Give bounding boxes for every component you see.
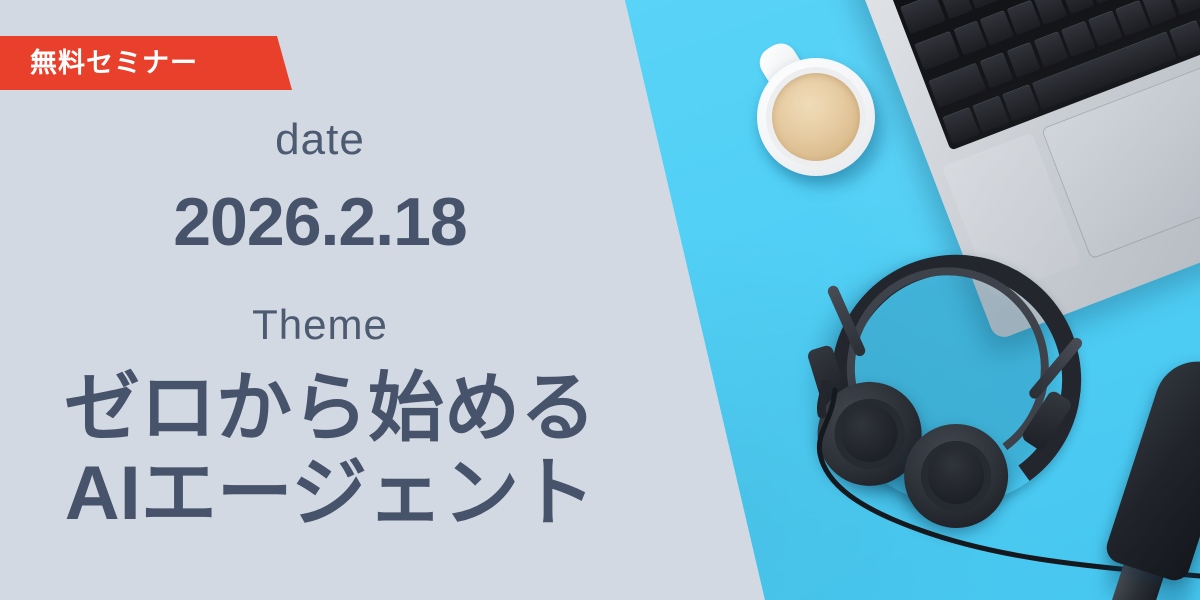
ribbon-label: 無料セミナー: [0, 50, 198, 77]
coffee-liquid: [772, 73, 860, 161]
free-seminar-ribbon: 無料セミナー: [0, 36, 292, 90]
cup-body: [757, 58, 875, 176]
seminar-banner: 無料セミナー date 2026.2.18 Theme ゼロから始める AIエー…: [0, 0, 1200, 600]
theme-title-line-2: AIエージェント: [0, 451, 660, 536]
theme-title-line-1: ゼロから始める: [0, 366, 660, 451]
date-label: date: [0, 118, 640, 162]
content-panel: 無料セミナー date 2026.2.18 Theme ゼロから始める AIエー…: [0, 0, 640, 600]
date-value: 2026.2.18: [0, 188, 640, 256]
coffee-cup-image: [757, 58, 875, 176]
theme-label: Theme: [0, 304, 640, 346]
theme-title: ゼロから始める AIエージェント: [0, 366, 660, 536]
